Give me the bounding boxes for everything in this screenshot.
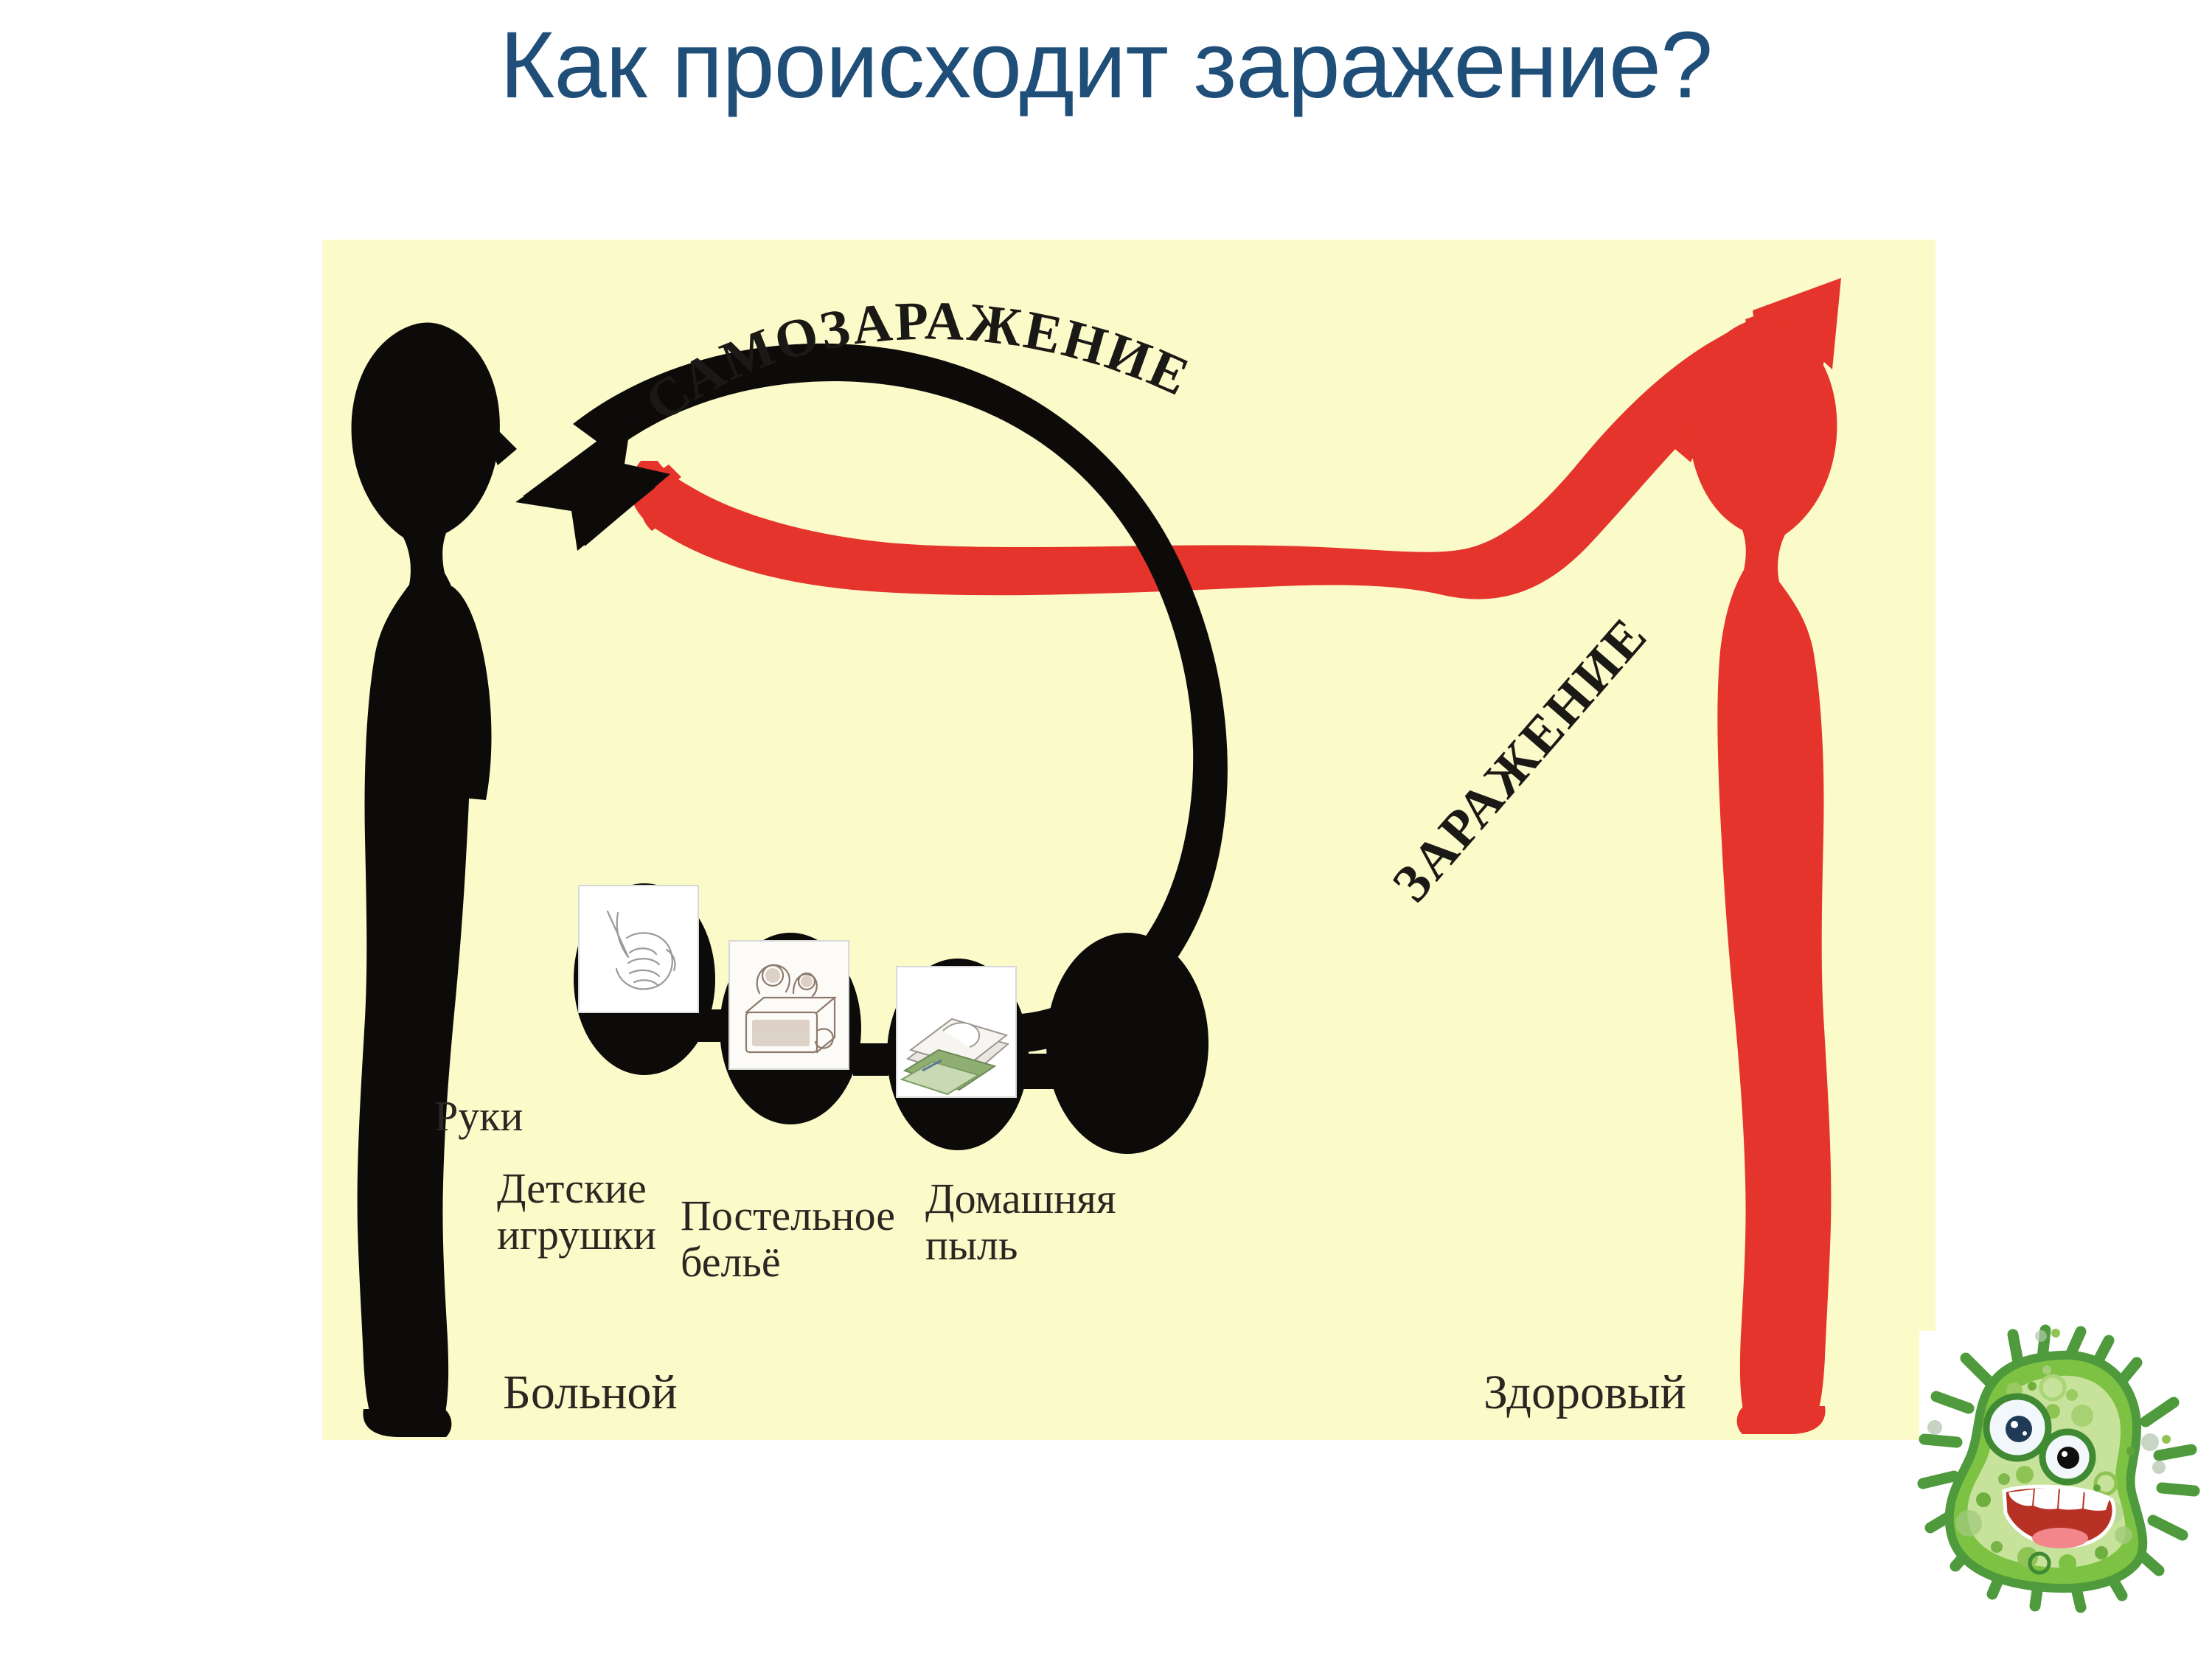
healthy-child-silhouette (1672, 319, 1837, 1434)
toys-sketch-thumb (728, 940, 849, 1070)
chain-label-dust: Домашняя пыль (925, 1176, 1116, 1268)
chain-oval-dust (1046, 933, 1208, 1154)
bedding-sketch-thumb (896, 966, 1017, 1098)
hand-sketch-thumb (578, 885, 699, 1013)
actor-label-sick: Больной (503, 1366, 678, 1419)
infection-diagram-panel: САМОЗАРАЖЕНИЕ ЗАРАЖЕНИЕ (322, 240, 1935, 1440)
germ-right-eye (2042, 1432, 2093, 1482)
chain-label-bedding: Постельное бельё (681, 1193, 895, 1285)
infection-arrow-red (630, 278, 1841, 599)
chain-label-toys: Детские игрушки (497, 1166, 656, 1258)
sick-child-silhouette (352, 322, 517, 1437)
page-title: Как происходит заражение? (0, 16, 2212, 115)
germ-left-eye (1986, 1397, 2048, 1458)
germ-character (1916, 1320, 2211, 1615)
diagram-illustration (322, 240, 1935, 1440)
actor-label-healthy: Здоровый (1484, 1366, 1686, 1419)
chain-label-hands: Руки (434, 1093, 523, 1140)
